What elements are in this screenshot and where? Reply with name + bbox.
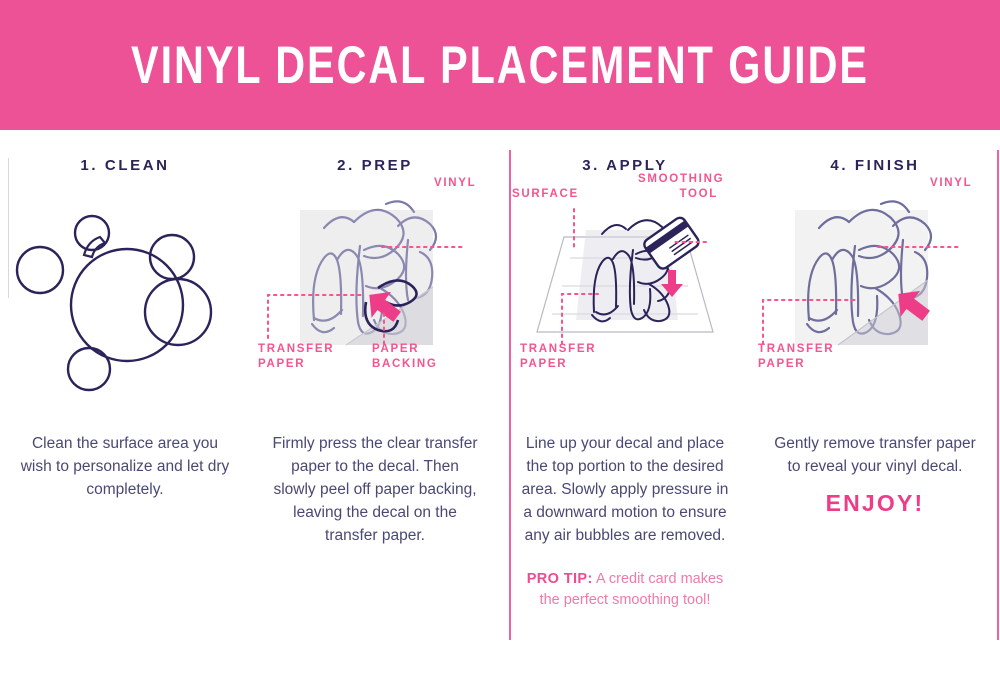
- pro-tip-label: PRO TIP:: [527, 571, 593, 587]
- step-description-clean: Clean the surface area you wish to perso…: [0, 432, 250, 501]
- step-column-finish: 4. FINISH: [750, 130, 1000, 680]
- step-title-finish: 4. FINISH: [750, 157, 1000, 174]
- bubble-left: [17, 247, 63, 293]
- bubble-large: [71, 249, 183, 361]
- callout-transfer-paper: TRANSFER PAPER: [520, 342, 596, 372]
- callout-smoothing-tool: SMOOTHING TOOL: [638, 172, 718, 202]
- bubble-bottom: [68, 348, 110, 390]
- step-column-apply: 3. APPLY: [500, 130, 750, 680]
- enjoy-text: ENJOY!: [750, 490, 1000, 517]
- bubble-right-lower: [145, 279, 211, 345]
- step-column-prep: 2. PREP: [250, 130, 500, 680]
- callout-paper-backing: PAPER BACKING: [372, 342, 438, 372]
- step-title-prep: 2. PREP: [250, 157, 500, 174]
- step-body-wrap-clean: Clean the surface area you wish to perso…: [0, 432, 250, 501]
- step-title-clean: 1. CLEAN: [0, 157, 250, 174]
- step-description-apply: Line up your decal and place the top por…: [500, 432, 750, 547]
- callout-surface: SURFACE: [512, 187, 579, 202]
- step-body-wrap-prep: Firmly press the clear transfer paper to…: [250, 432, 500, 547]
- steps-container: 1. CLEAN Clean the surface area you wish…: [0, 130, 1000, 680]
- step-body-wrap-apply: Line up your decal and place the top por…: [500, 432, 750, 611]
- page-title: VINYL DECAL PLACEMENT GUIDE: [131, 35, 869, 96]
- header-banner: VINYL DECAL PLACEMENT GUIDE: [0, 0, 1000, 130]
- step-description-prep: Firmly press the clear transfer paper to…: [250, 432, 500, 547]
- callout-transfer-paper: TRANSFER PAPER: [758, 342, 834, 372]
- pro-tip: PRO TIP: A credit card makes the perfect…: [500, 569, 750, 611]
- step-description-finish: Gently remove transfer paper to reveal y…: [750, 432, 1000, 478]
- callout-vinyl: VINYL: [434, 176, 476, 191]
- callout-vinyl: VINYL: [930, 176, 972, 191]
- callout-transfer-paper: TRANSFER PAPER: [258, 342, 334, 372]
- bubble-top: [75, 216, 109, 250]
- step-column-clean: 1. CLEAN Clean the surface area you wish…: [0, 130, 250, 680]
- step-body-wrap-finish: Gently remove transfer paper to reveal y…: [750, 432, 1000, 517]
